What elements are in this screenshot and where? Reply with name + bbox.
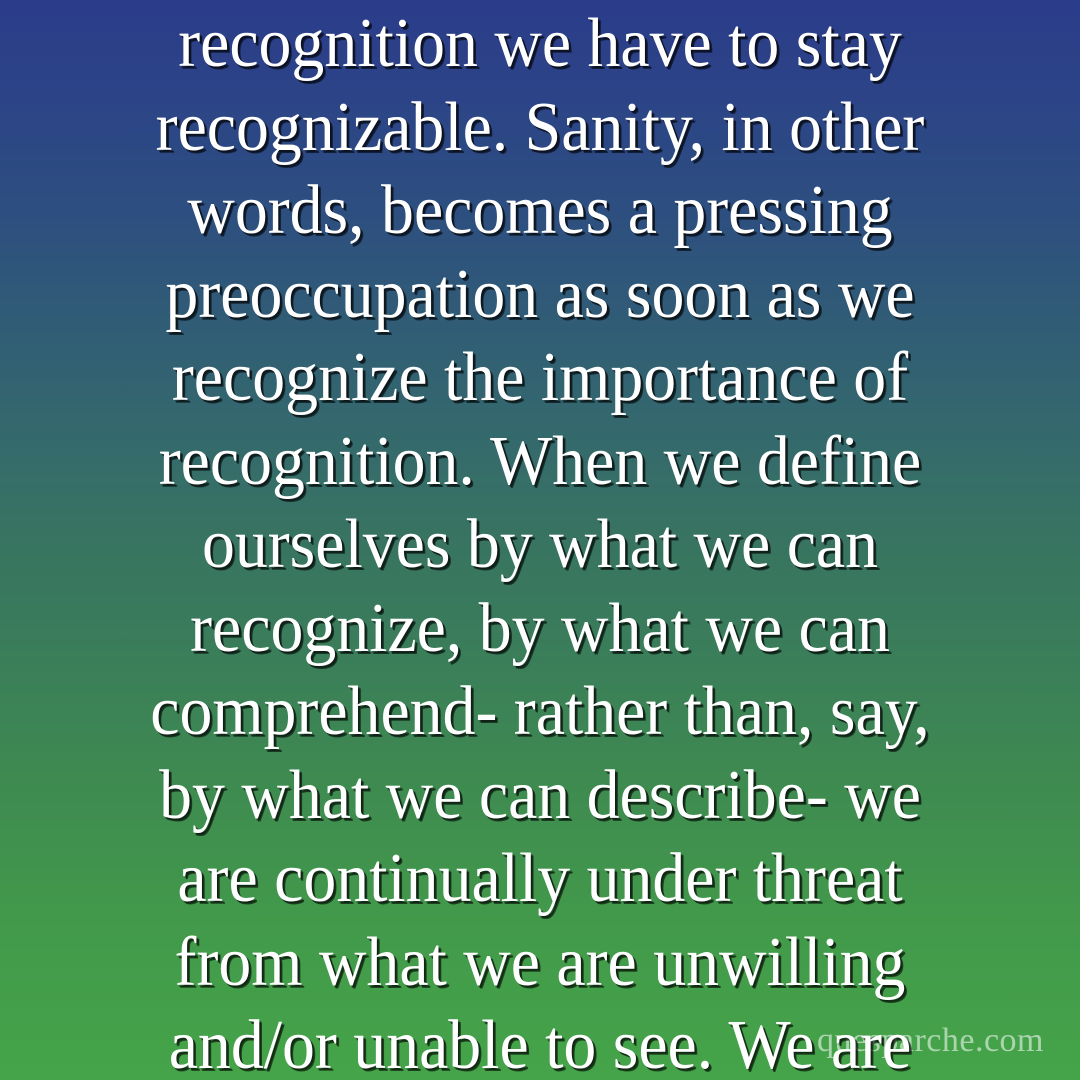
quote-line: are continually under threat	[32, 837, 1047, 921]
quote-line: by what we can describe- we	[32, 754, 1047, 838]
quote-line: from what we are unwilling	[32, 921, 1047, 1005]
quote-line: ourselves by what we can	[32, 503, 1047, 587]
quote-line: recognize the importance of	[32, 336, 1047, 420]
quote-line: words, becomes a pressing	[32, 169, 1047, 253]
quote-text-block: recognition we have to stay recognizable…	[0, 0, 1080, 1080]
quote-card: quesparche.com recognition we have to st…	[0, 0, 1080, 1080]
quote-line: and/or unable to see. We are	[32, 1004, 1047, 1080]
quote-line: recognizable. Sanity, in other	[32, 86, 1047, 170]
quote-line: comprehend- rather than, say,	[32, 670, 1047, 754]
quote-line: recognize, by what we can	[32, 587, 1047, 671]
quote-line: recognition. When we define	[32, 420, 1047, 504]
quote-line: recognition we have to stay	[32, 2, 1047, 86]
quote-line: preoccupation as soon as we	[32, 253, 1047, 337]
